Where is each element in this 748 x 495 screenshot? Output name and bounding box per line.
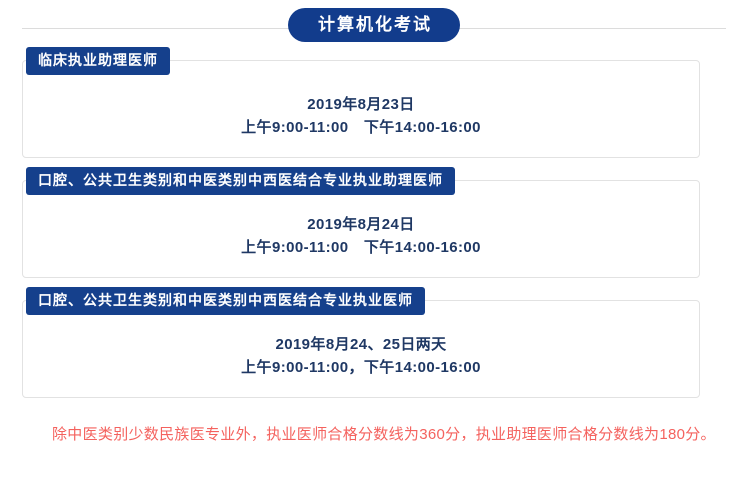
exam-time-slots: 上午9:00-11:00 下午14:00-16:00: [23, 236, 699, 259]
exam-category-badge: 口腔、公共卫生类别和中医类别中西医结合专业执业助理医师: [26, 167, 455, 195]
exam-date: 2019年8月24、25日两天: [23, 333, 699, 356]
exam-schedule-list: 临床执业助理医师 2019年8月23日 上午9:00-11:00 下午14:00…: [0, 60, 748, 398]
exam-schedule-card: 口腔、公共卫生类别和中医类别中西医结合专业执业医师 2019年8月24、25日两…: [22, 300, 700, 398]
exam-category-badge: 临床执业助理医师: [26, 47, 170, 75]
exam-time-slots: 上午9:00-11:00 下午14:00-16:00: [23, 116, 699, 139]
exam-schedule-card: 口腔、公共卫生类别和中医类别中西医结合专业执业助理医师 2019年8月24日 上…: [22, 180, 700, 278]
exam-date: 2019年8月23日: [23, 93, 699, 116]
exam-date: 2019年8月24日: [23, 213, 699, 236]
exam-schedule-card: 临床执业助理医师 2019年8月23日 上午9:00-11:00 下午14:00…: [22, 60, 700, 158]
exam-category-badge: 口腔、公共卫生类别和中医类别中西医结合专业执业医师: [26, 287, 425, 315]
page-title: 计算机化考试: [288, 8, 460, 42]
passing-score-note: 除中医类别少数民族医专业外，执业医师合格分数线为360分，执业助理医师合格分数线…: [22, 422, 726, 448]
exam-time-slots: 上午9:00-11:00，下午14:00-16:00: [23, 356, 699, 379]
